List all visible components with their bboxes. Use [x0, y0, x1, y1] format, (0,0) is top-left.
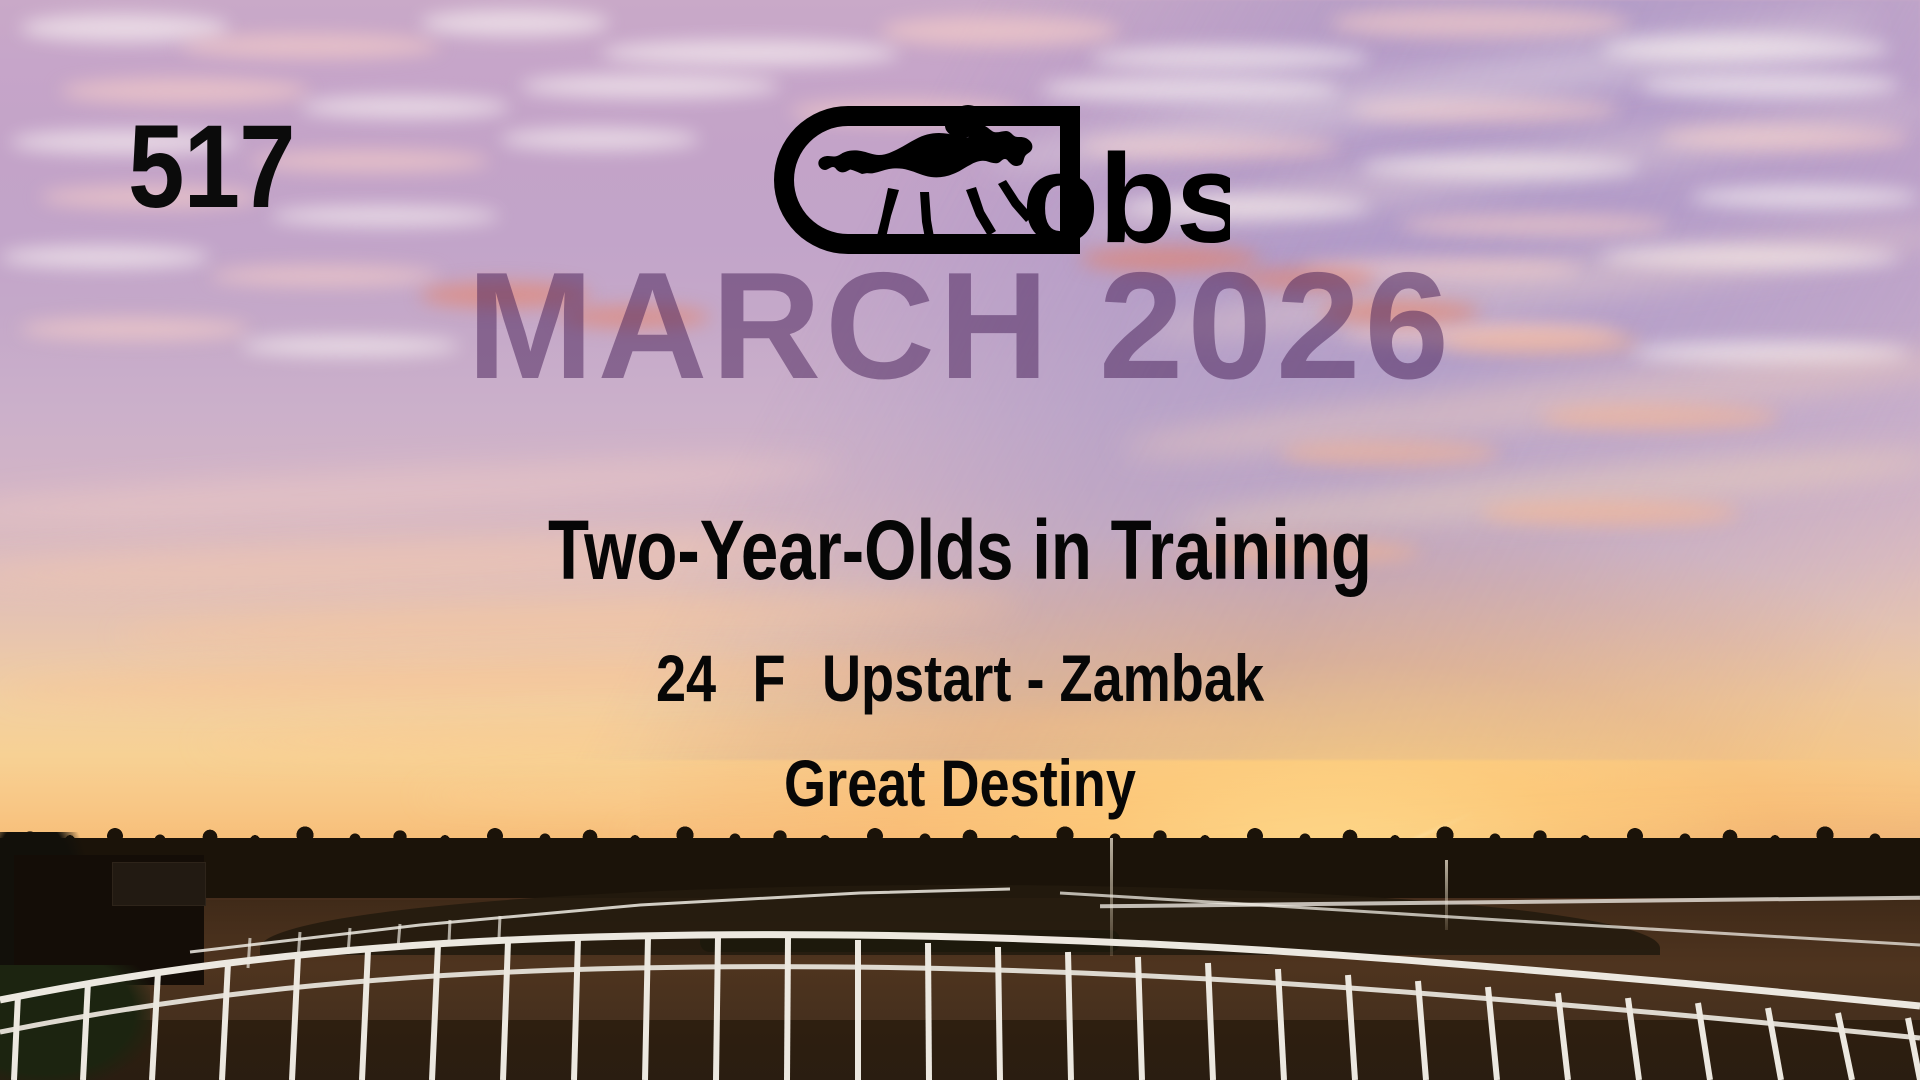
sale-title: Two-Year-Olds in Training	[192, 508, 1728, 592]
hip-detail-line: 24 F Upstart - Zambak	[173, 645, 1747, 711]
foreground-shrub	[0, 965, 150, 1080]
consignor-name: Great Destiny	[173, 750, 1747, 816]
hip-sex: F	[753, 641, 786, 715]
hip-dash: -	[1026, 641, 1044, 715]
grandstand-roof	[112, 862, 206, 906]
track-pole	[1110, 838, 1113, 956]
hip-sire: Upstart	[822, 641, 1011, 715]
hip-dam: Zambak	[1060, 641, 1265, 715]
obs-logo[interactable]: OBS - Ocala Breeders' Sales running hors…	[770, 100, 1230, 260]
catalog-banner: 517 OBS - Ocala Breeders' Sales running …	[0, 0, 1920, 1080]
hip-age: 24	[656, 641, 716, 715]
sale-month-year: MARCH 2026	[0, 250, 1920, 402]
track-pole	[1445, 860, 1448, 930]
hip-number: 517	[128, 108, 295, 226]
infield-hedge	[700, 930, 1120, 952]
